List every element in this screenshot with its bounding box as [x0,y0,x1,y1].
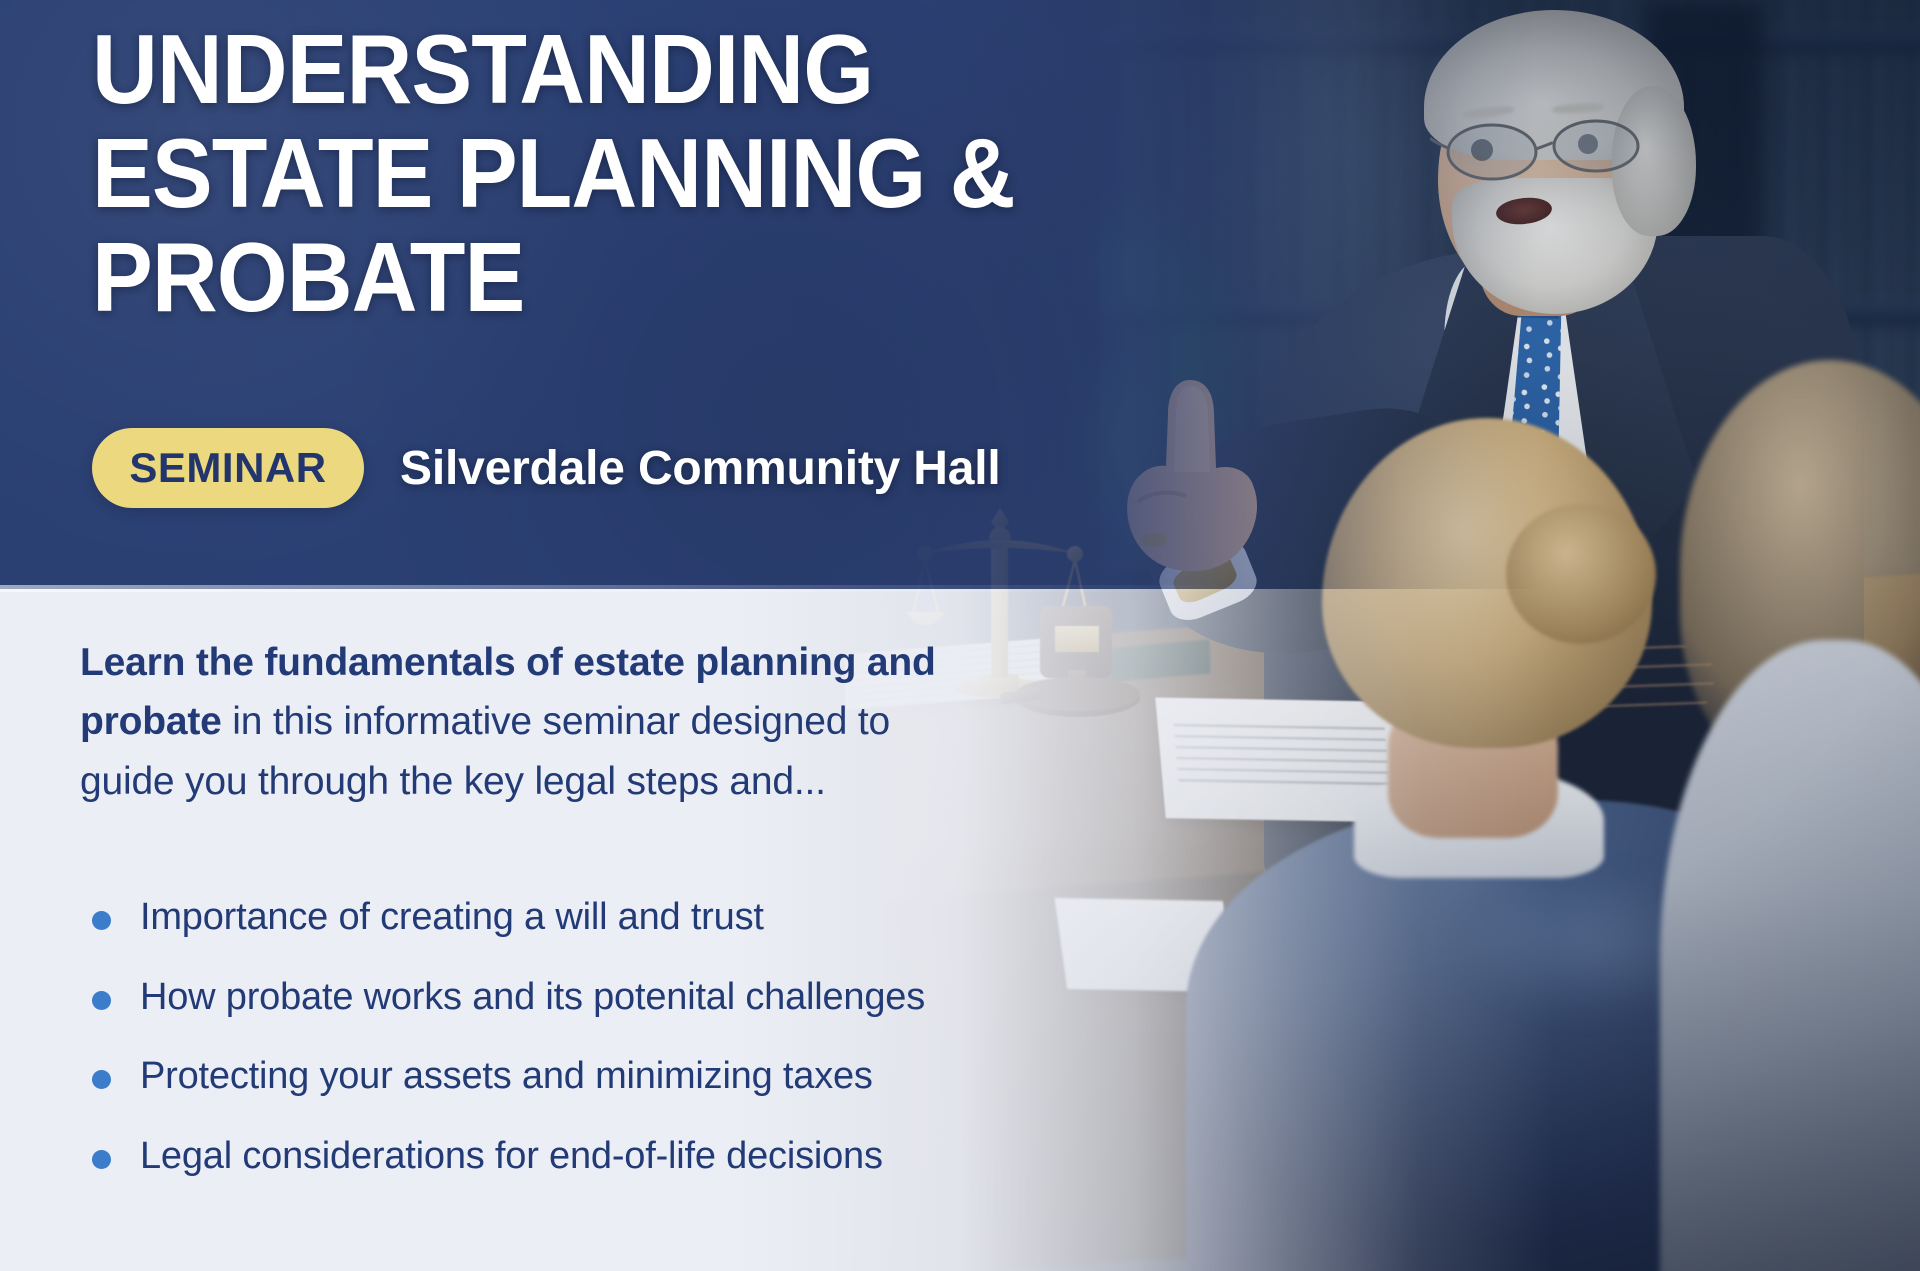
title-line-3: Probate [92,226,1059,330]
list-item-label: Importance of creating a will and trust [140,896,764,938]
topics-list: Importance of creating a will and trust … [84,895,1044,1213]
title-line-1: Understanding [92,18,1059,122]
list-item: How probate works and its potenital chal… [84,975,1044,1021]
title-line-2: Estate Planning & [92,122,1059,226]
page-title: Understanding Estate Planning & Probate [92,18,1059,330]
bullet-dot-icon [92,991,111,1010]
list-item: Importance of creating a will and trust [84,895,1044,941]
list-item: Legal considerations for end-of-life dec… [84,1134,1044,1180]
list-item-label: How probate works and its potenital chal… [140,976,925,1018]
venue-label: Silverdale Community Hall [400,441,1001,496]
status-badge: SEMINAR [92,428,364,508]
event-meta-row: SEMINAR Silverdale Community Hall [92,428,1001,508]
bullet-dot-icon [92,1070,111,1089]
list-item-label: Protecting your assets and minimizing ta… [140,1055,873,1097]
lead-paragraph: Learn the fundamentals of estate plannin… [80,633,960,811]
bullet-dot-icon [92,911,111,930]
seminar-promo-card: Understanding Estate Planning & Probate … [0,0,1920,1271]
bullet-dot-icon [92,1150,111,1169]
list-item: Protecting your assets and minimizing ta… [84,1054,1044,1100]
list-item-label: Legal considerations for end-of-life dec… [140,1135,883,1177]
